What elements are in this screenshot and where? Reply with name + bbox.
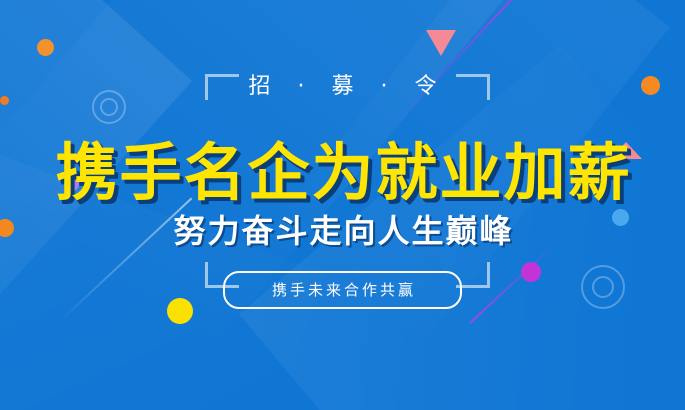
recruitment-banner: 招 · 募 · 令 携手名企为就业加薪 努力奋斗走向人生巅峰 携手未来合作共赢 (0, 0, 685, 410)
headline-text: 携手名企为就业加薪 (0, 122, 685, 212)
pink-triangle-down-icon (426, 30, 456, 56)
concentric-ring-inner-icon (100, 98, 118, 116)
cta-button[interactable]: 携手未来合作共赢 (223, 271, 462, 309)
eyebrow-text: 招 · 募 · 令 (0, 68, 685, 100)
cta-container: 携手未来合作共赢 (0, 271, 685, 309)
subheadline-text: 努力奋斗走向人生巅峰 (0, 206, 685, 252)
orange-dot-icon (37, 39, 54, 56)
